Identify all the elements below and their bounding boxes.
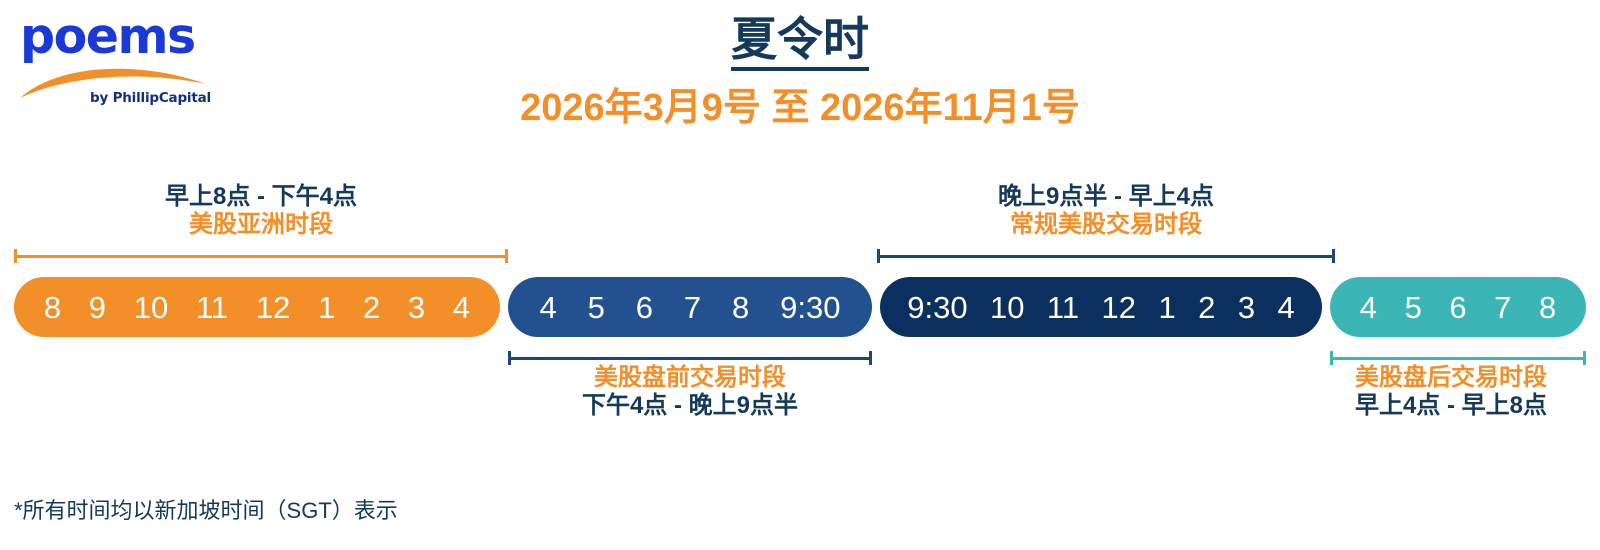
caption-premarket-session: 美股盘前交易时段 下午4点 - 晚上9点半 [500, 364, 880, 421]
hour-label: 4 [453, 292, 470, 323]
bracket-cap-right [1583, 351, 1586, 365]
timeline-bar-asia-session: 891011121234 [14, 277, 500, 337]
bracket-cap-right [869, 351, 872, 365]
page-title-text: 夏令时 [731, 13, 869, 71]
bracket-cap-right [505, 249, 508, 263]
caption-regular-session: 晚上9点半 - 早上4点 常规美股交易时段 [877, 183, 1335, 240]
hour-label: 8 [732, 292, 749, 323]
timeline-bar-aftermarket-session: 45678 [1330, 277, 1586, 337]
caption-asia-name: 美股亚洲时段 [14, 211, 508, 239]
bracket-line [877, 255, 1335, 258]
caption-premarket-name: 美股盘前交易时段 [500, 364, 880, 392]
hour-label: 6 [1449, 292, 1466, 323]
hour-label: 4 [1278, 292, 1295, 323]
hour-label: 5 [588, 292, 605, 323]
caption-asia-time: 早上8点 - 下午4点 [14, 183, 508, 211]
hour-label: 3 [1238, 292, 1255, 323]
bracket-line [1330, 357, 1586, 360]
hour-label: 10 [134, 292, 168, 323]
hour-label: 3 [408, 292, 425, 323]
caption-premarket-time: 下午4点 - 晚上9点半 [500, 392, 880, 420]
hour-label: 6 [636, 292, 653, 323]
bracket-line [508, 357, 872, 360]
hour-label: 9 [89, 292, 106, 323]
hour-label: 10 [990, 292, 1024, 323]
timeline-bar-regular-session: 9:301011121234 [880, 277, 1322, 337]
caption-asia-session: 早上8点 - 下午4点 美股亚洲时段 [14, 183, 508, 240]
hour-label: 11 [196, 292, 228, 323]
caption-regular-time: 晚上9点半 - 早上4点 [877, 183, 1335, 211]
hour-label: 5 [1405, 292, 1422, 323]
hour-label: 4 [539, 292, 556, 323]
bracket-line [14, 255, 508, 258]
hour-label: 4 [1360, 292, 1377, 323]
hour-label: 2 [363, 292, 380, 323]
hour-label: 1 [1158, 292, 1175, 323]
bracket-regular-session [877, 249, 1335, 263]
caption-aftermarket-time: 早上4点 - 早上8点 [1316, 392, 1586, 420]
hour-label: 9:30 [907, 292, 967, 323]
page-title: 夏令时 [0, 14, 1600, 65]
caption-aftermarket-session: 美股盘后交易时段 早上4点 - 早上8点 [1316, 364, 1586, 421]
hour-label: 2 [1198, 292, 1215, 323]
caption-regular-name: 常规美股交易时段 [877, 211, 1335, 239]
caption-aftermarket-name: 美股盘后交易时段 [1316, 364, 1586, 392]
hour-label: 12 [1102, 292, 1136, 323]
bracket-cap-right [1332, 249, 1335, 263]
bracket-premarket-session [508, 351, 872, 365]
hour-label: 7 [1494, 292, 1511, 323]
hour-label: 8 [44, 292, 61, 323]
bracket-asia-session [14, 249, 508, 263]
date-range-subtitle: 2026年3月9号 至 2026年11月1号 [0, 88, 1600, 130]
hour-label: 8 [1539, 292, 1556, 323]
hour-label: 12 [256, 292, 290, 323]
hour-label: 9:30 [780, 292, 840, 323]
hour-label: 1 [318, 292, 335, 323]
timezone-footnote: *所有时间均以新加坡时间（SGT）表示 [14, 493, 398, 525]
bracket-aftermarket-session [1330, 351, 1586, 365]
hour-label: 7 [684, 292, 701, 323]
hour-label: 11 [1047, 292, 1079, 323]
timeline-bar-premarket-session: 456789:30 [508, 277, 872, 337]
